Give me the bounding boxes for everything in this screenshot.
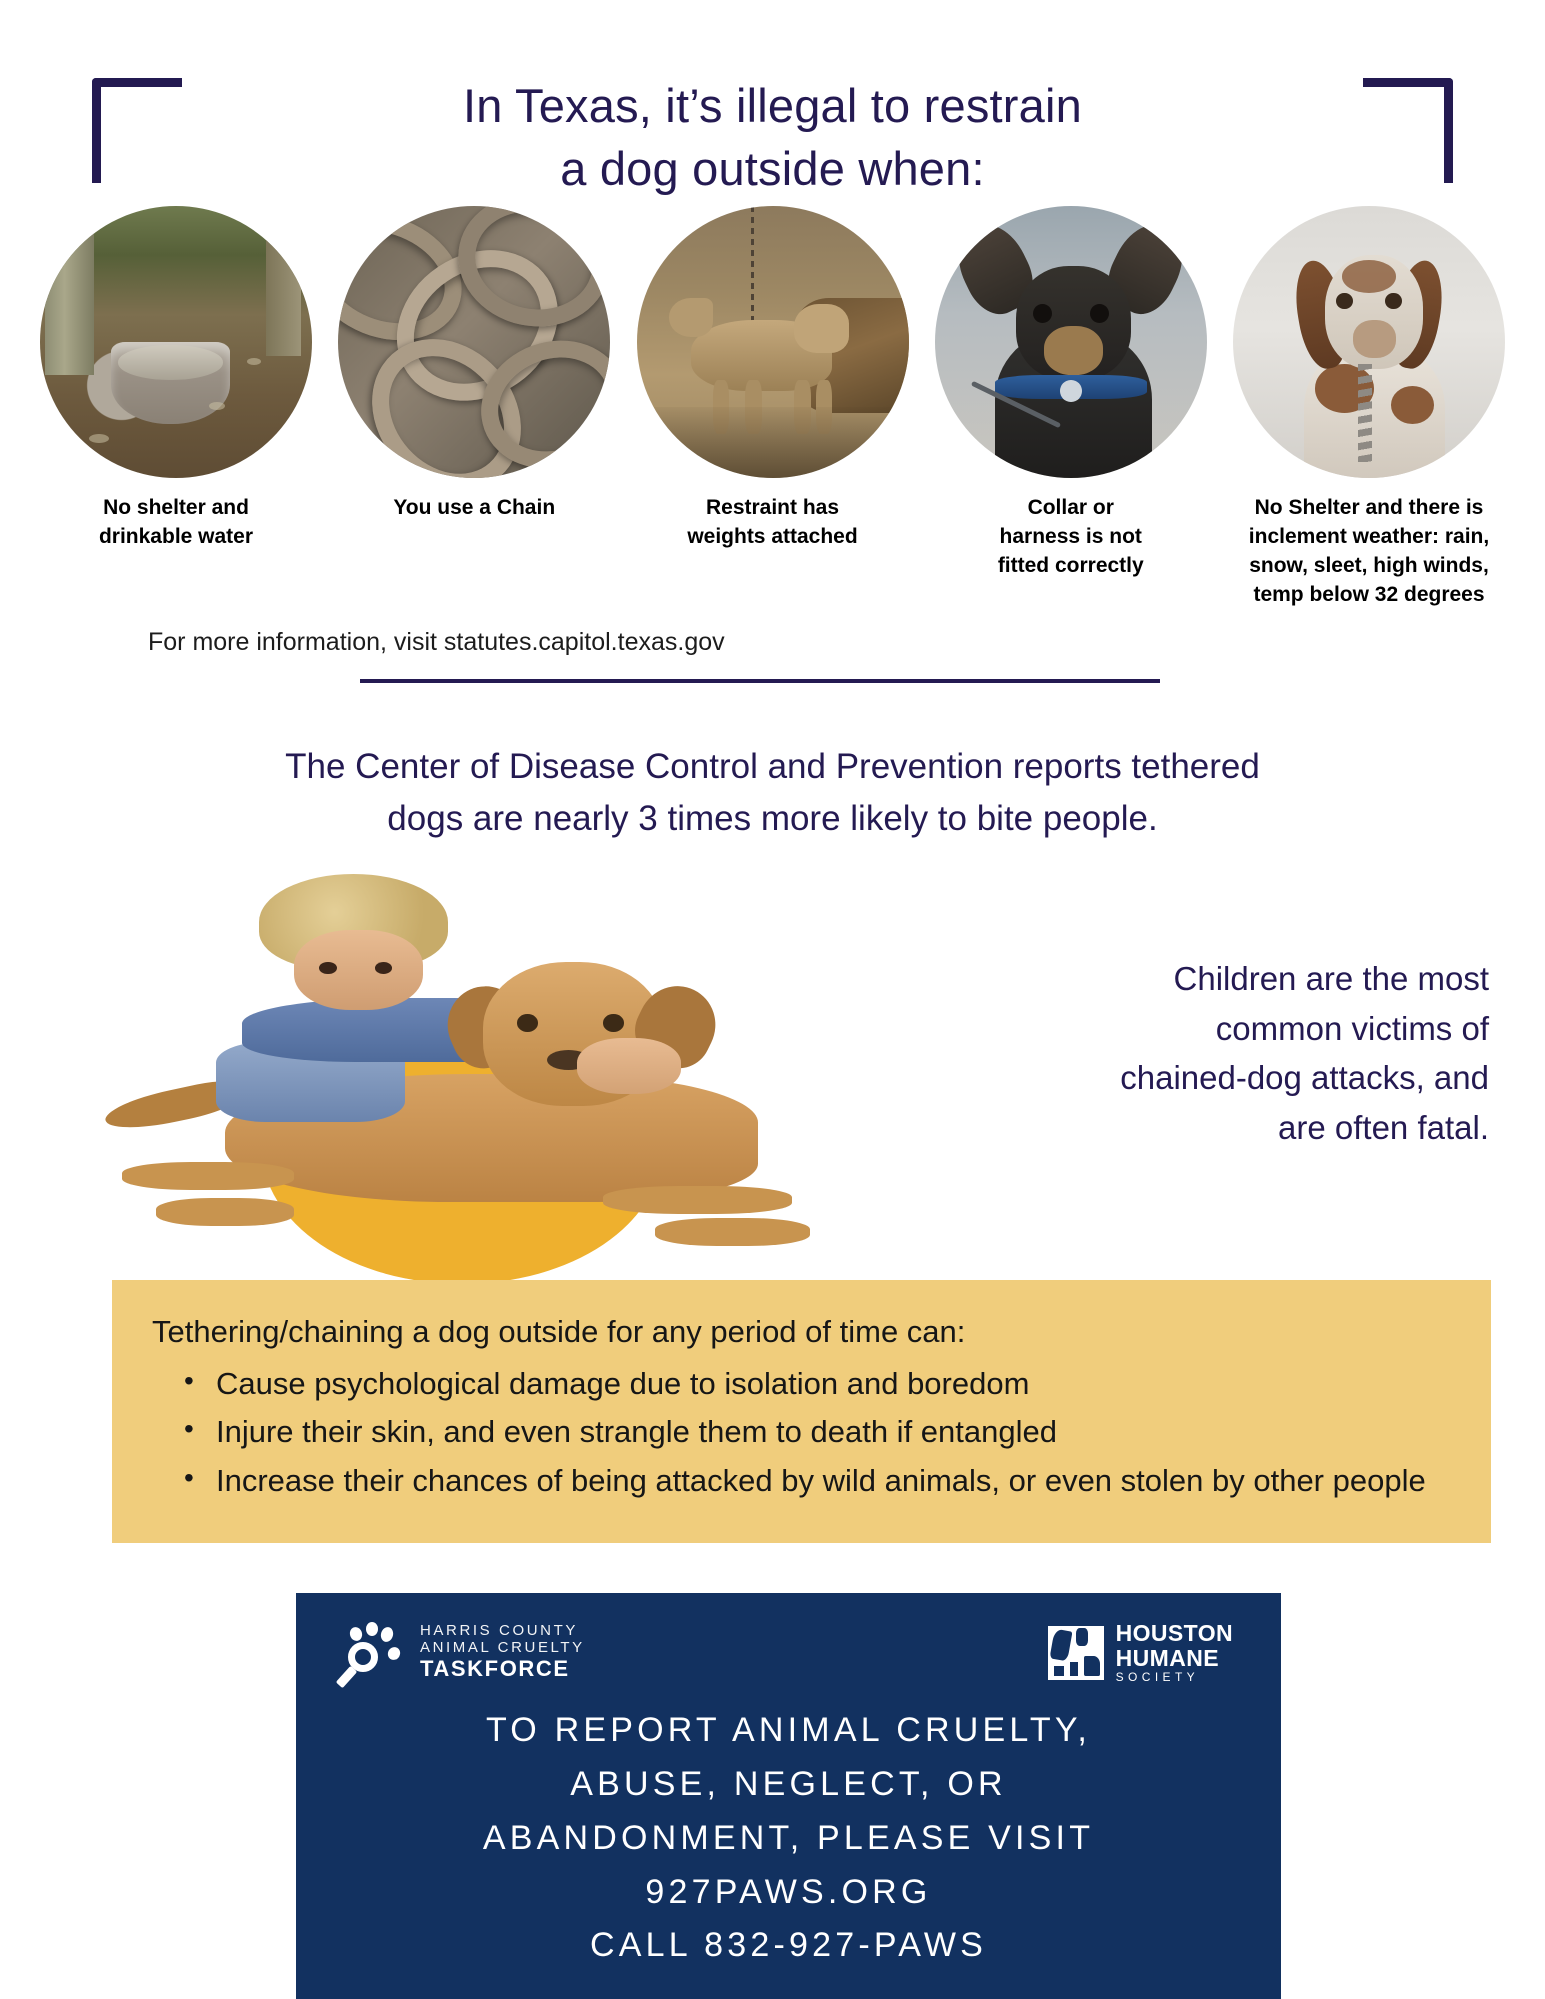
dog-with-blue-collar-photo bbox=[935, 206, 1207, 478]
cdc-statement-line-1: The Center of Disease Control and Preven… bbox=[150, 741, 1395, 793]
caption-1-line-1: No shelter and bbox=[103, 496, 249, 519]
caption-5-line-2: inclement weather: rain, bbox=[1249, 525, 1489, 548]
more-information-text: For more information, visit statutes.cap… bbox=[0, 628, 1545, 657]
condition-caption-3: Restraint has weights attached bbox=[643, 494, 903, 552]
caption-5-line-1: No Shelter and there is bbox=[1255, 496, 1484, 519]
humane-society-icon bbox=[1048, 1626, 1104, 1680]
hcact-line-3: TASKFORCE bbox=[420, 1657, 585, 1682]
chained-pointer-dog-photo bbox=[1233, 206, 1505, 478]
cdc-statement-line-2: dogs are nearly 3 times more likely to b… bbox=[150, 793, 1395, 845]
footer-section: HARRIS COUNTY ANIMAL CRUELTY TASKFORCE H… bbox=[296, 1593, 1281, 1999]
footer-text-line-3: ABANDONMENT, PLEASE VISIT bbox=[330, 1812, 1247, 1866]
children-statement-line-2: common victims of bbox=[989, 1004, 1489, 1054]
child-and-dog-section: Children are the most common victims of … bbox=[0, 866, 1545, 1266]
cdc-statement: The Center of Disease Control and Preven… bbox=[0, 683, 1545, 845]
water-bowl-by-fence-photo bbox=[40, 206, 312, 478]
page-title: In Texas, it’s illegal to restrain a dog… bbox=[0, 0, 1545, 201]
effects-list: Cause psychological damage due to isolat… bbox=[152, 1362, 1451, 1502]
footer-text-line-2: ABUSE, NEGLECT, OR bbox=[330, 1758, 1247, 1812]
tethered-dog-by-log-photo bbox=[637, 206, 909, 478]
header-section: In Texas, it’s illegal to restrain a dog… bbox=[0, 0, 1545, 200]
conditions-row: No shelter and drinkable water You use a… bbox=[0, 200, 1545, 610]
page-title-line-1: In Texas, it’s illegal to restrain bbox=[0, 74, 1545, 137]
houston-humane-society-logo[interactable]: HOUSTON HUMANE SOCIETY bbox=[1048, 1621, 1233, 1685]
condition-caption-4: Collar or harness is not fitted correctl… bbox=[941, 494, 1201, 581]
hcact-line-2: ANIMAL CRUELTY bbox=[420, 1640, 585, 1657]
caption-4-line-1: Collar or bbox=[1028, 496, 1114, 519]
list-item: Cause psychological damage due to isolat… bbox=[180, 1362, 1451, 1406]
children-statement-line-4: are often fatal. bbox=[989, 1103, 1489, 1153]
caption-5-line-4: temp below 32 degrees bbox=[1253, 583, 1484, 606]
harris-county-taskforce-logo[interactable]: HARRIS COUNTY ANIMAL CRUELTY TASKFORCE bbox=[344, 1622, 585, 1684]
caption-5-line-3: snow, sleet, high winds, bbox=[1249, 554, 1489, 577]
list-item: Increase their chances of being attacked… bbox=[180, 1459, 1451, 1503]
condition-item-4: Collar or harness is not fitted correctl… bbox=[935, 206, 1207, 581]
caption-1-line-2: drinkable water bbox=[99, 525, 253, 548]
heavy-chain-links-photo bbox=[338, 206, 610, 478]
harris-county-taskforce-wordmark: HARRIS COUNTY ANIMAL CRUELTY TASKFORCE bbox=[420, 1623, 585, 1681]
bracket-right-decoration bbox=[1363, 78, 1453, 183]
hhs-line-3: SOCIETY bbox=[1116, 1671, 1233, 1684]
effects-heading: Tethering/chaining a dog outside for any… bbox=[152, 1314, 1451, 1350]
page-title-line-2: a dog outside when: bbox=[0, 137, 1545, 200]
footer-phone[interactable]: CALL 832-927-PAWS bbox=[330, 1919, 1247, 1973]
condition-caption-5: No Shelter and there is inclement weathe… bbox=[1239, 494, 1499, 610]
caption-4-line-3: fitted correctly bbox=[998, 554, 1144, 577]
condition-caption-2: You use a Chain bbox=[344, 494, 604, 523]
report-cruelty-text: TO REPORT ANIMAL CRUELTY, ABUSE, NEGLECT… bbox=[330, 1704, 1247, 1973]
hhs-line-1: HOUSTON bbox=[1116, 1621, 1233, 1646]
children-victims-statement: Children are the most common victims of … bbox=[989, 954, 1489, 1152]
caption-2-line-1: You use a Chain bbox=[393, 496, 555, 519]
paw-magnifier-icon bbox=[344, 1622, 406, 1684]
condition-item-1: No shelter and drinkable water bbox=[40, 206, 312, 552]
caption-3-line-2: weights attached bbox=[687, 525, 857, 548]
condition-item-5: No Shelter and there is inclement weathe… bbox=[1233, 206, 1505, 610]
list-item: Injure their skin, and even strangle the… bbox=[180, 1410, 1451, 1454]
houston-humane-society-wordmark: HOUSTON HUMANE SOCIETY bbox=[1116, 1621, 1233, 1685]
footer-website[interactable]: 927PAWS.ORG bbox=[330, 1866, 1247, 1920]
children-statement-line-1: Children are the most bbox=[989, 954, 1489, 1004]
children-statement-line-3: chained-dog attacks, and bbox=[989, 1053, 1489, 1103]
condition-item-3: Restraint has weights attached bbox=[637, 206, 909, 552]
hcact-line-1: HARRIS COUNTY bbox=[420, 1623, 585, 1640]
bracket-left-decoration bbox=[92, 78, 182, 183]
caption-4-line-2: harness is not bbox=[1000, 525, 1142, 548]
child-hugging-dog-photo bbox=[70, 866, 930, 1266]
condition-item-2: You use a Chain bbox=[338, 206, 610, 523]
caption-3-line-1: Restraint has bbox=[706, 496, 839, 519]
footer-logos-row: HARRIS COUNTY ANIMAL CRUELTY TASKFORCE H… bbox=[330, 1621, 1247, 1685]
effects-callout-box: Tethering/chaining a dog outside for any… bbox=[112, 1280, 1491, 1542]
footer-text-line-1: TO REPORT ANIMAL CRUELTY, bbox=[330, 1704, 1247, 1758]
condition-caption-1: No shelter and drinkable water bbox=[46, 494, 306, 552]
hhs-line-2: HUMANE bbox=[1116, 1646, 1233, 1671]
